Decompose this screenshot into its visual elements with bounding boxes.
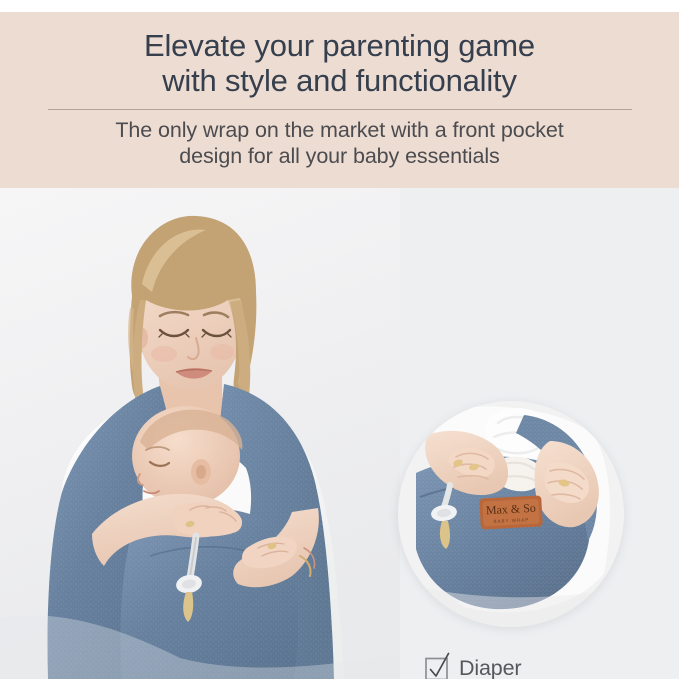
- essentials-checklist: Diaper Pacifier Toy: [424, 648, 674, 679]
- brand-label-inset: Max & So BABY WRAP: [479, 495, 543, 529]
- photo-stage: Max & So BABY WRAP: [0, 188, 679, 679]
- page-subtitle: The only wrap on the market with a front…: [32, 118, 647, 170]
- headline-line-2: with style and functionality: [40, 64, 640, 99]
- subline-line-1: The only wrap on the market with a front…: [32, 118, 647, 144]
- product-feature-poster: Elevate your parenting game with style a…: [0, 0, 679, 679]
- svg-text:Max & So: Max & So: [486, 501, 537, 518]
- checkbox-checked-icon[interactable]: [424, 657, 447, 679]
- inset-photo-pocket-detail: Max & So BABY WRAP: [398, 401, 624, 627]
- page-title: Elevate your parenting game with style a…: [40, 29, 640, 98]
- checklist-item-diaper[interactable]: Diaper: [424, 648, 674, 679]
- hero-photo: Max & So BABY WRAP: [0, 188, 400, 679]
- headline-banner: Elevate your parenting game with style a…: [0, 12, 679, 188]
- headline-line-1: Elevate your parenting game: [40, 29, 640, 64]
- subline-line-2: design for all your baby essentials: [32, 144, 647, 170]
- checklist-label: Diaper: [459, 658, 521, 679]
- banner-divider: [48, 109, 632, 110]
